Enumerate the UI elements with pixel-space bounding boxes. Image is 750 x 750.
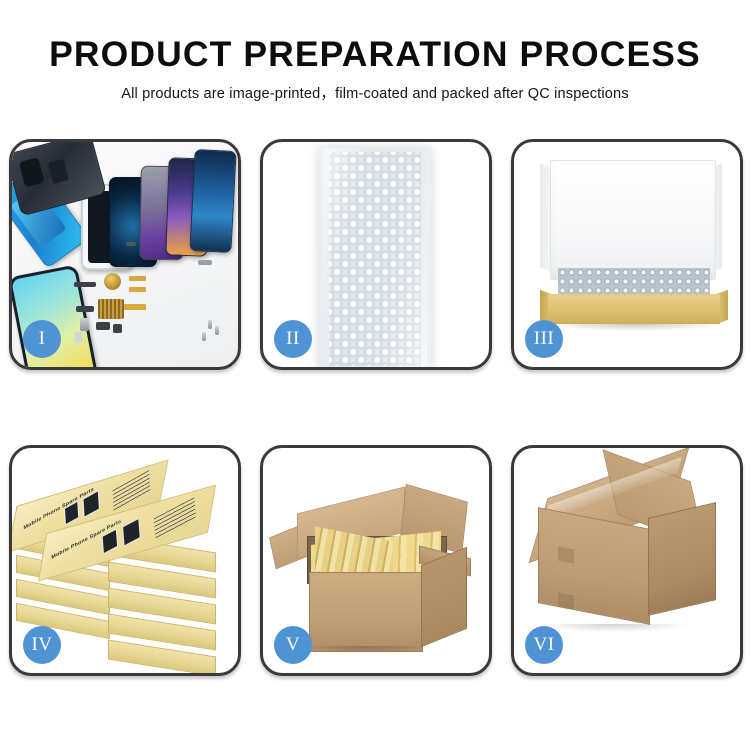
carton-handle-cutout-bottom	[558, 592, 574, 609]
flex-cable-part-1	[129, 276, 146, 281]
step-2-image: II	[263, 142, 489, 367]
battery-part	[80, 318, 89, 331]
step-badge-4: IV	[23, 626, 61, 664]
bubble-wrap-gloss	[323, 148, 427, 367]
carton-side-face	[421, 547, 467, 648]
earpiece-mesh-part	[74, 282, 96, 287]
step-5-image: V	[263, 448, 489, 673]
step-panel-4[interactable]: Mobile Phone Spare Parts Mobile Phone Sp…	[9, 445, 241, 676]
screw-part-2	[215, 326, 219, 335]
vibrator-part	[113, 324, 122, 333]
top-box-front-text-lines	[154, 497, 196, 541]
white-box-lid	[550, 160, 716, 280]
step-panel-6[interactable]: VI	[511, 445, 743, 676]
carton-shadow	[307, 646, 427, 654]
bubble-wrapped-contents	[558, 268, 710, 296]
step-badge-2: II	[274, 320, 312, 358]
lcd-screen-wave	[189, 149, 236, 253]
tool-part	[198, 260, 212, 265]
step-4-image: Mobile Phone Spare Parts Mobile Phone Sp…	[12, 448, 238, 673]
speaker-part	[96, 322, 110, 330]
flex-cable-part-2	[129, 287, 146, 292]
sealed-carton-front	[538, 507, 650, 625]
step-badge-5: V	[274, 626, 312, 664]
screw-part-3	[202, 332, 206, 341]
small-part	[126, 242, 136, 246]
step-badge-6: VI	[525, 626, 563, 664]
step-6-image: VI	[514, 448, 740, 673]
sealed-carton-side	[648, 502, 716, 616]
process-grid: I II III	[9, 139, 743, 676]
screw-part-1	[208, 320, 212, 329]
step-panel-1[interactable]: I	[9, 139, 241, 370]
step-badge-1: I	[23, 320, 61, 358]
top-box-front-thumb-2	[122, 518, 141, 547]
page-subtitle: All products are image-printed，film-coat…	[0, 82, 750, 103]
chip-part	[98, 299, 124, 319]
sim-tray-part	[75, 332, 82, 343]
step-1-image: I	[12, 142, 238, 367]
box-shadow	[548, 324, 720, 331]
kraft-tray-front	[548, 294, 720, 324]
page-title: PRODUCT PREPARATION PROCESS	[0, 36, 750, 73]
header: PRODUCT PREPARATION PROCESS All products…	[0, 36, 750, 103]
step-panel-5[interactable]: V	[260, 445, 492, 676]
carton-front-face	[309, 572, 423, 652]
connector-part	[76, 306, 94, 312]
step-badge-3: III	[525, 320, 563, 358]
page-root: PRODUCT PREPARATION PROCESS All products…	[0, 0, 750, 750]
flex-cable-part-3	[124, 304, 146, 310]
step-3-image: III	[514, 142, 740, 367]
step-panel-3[interactable]: III	[511, 139, 743, 370]
camera-lens-part	[104, 273, 121, 290]
carton-handle-cutout-top	[558, 546, 574, 563]
step-panel-2[interactable]: II	[260, 139, 492, 370]
sealed-carton-shadow	[540, 624, 690, 632]
